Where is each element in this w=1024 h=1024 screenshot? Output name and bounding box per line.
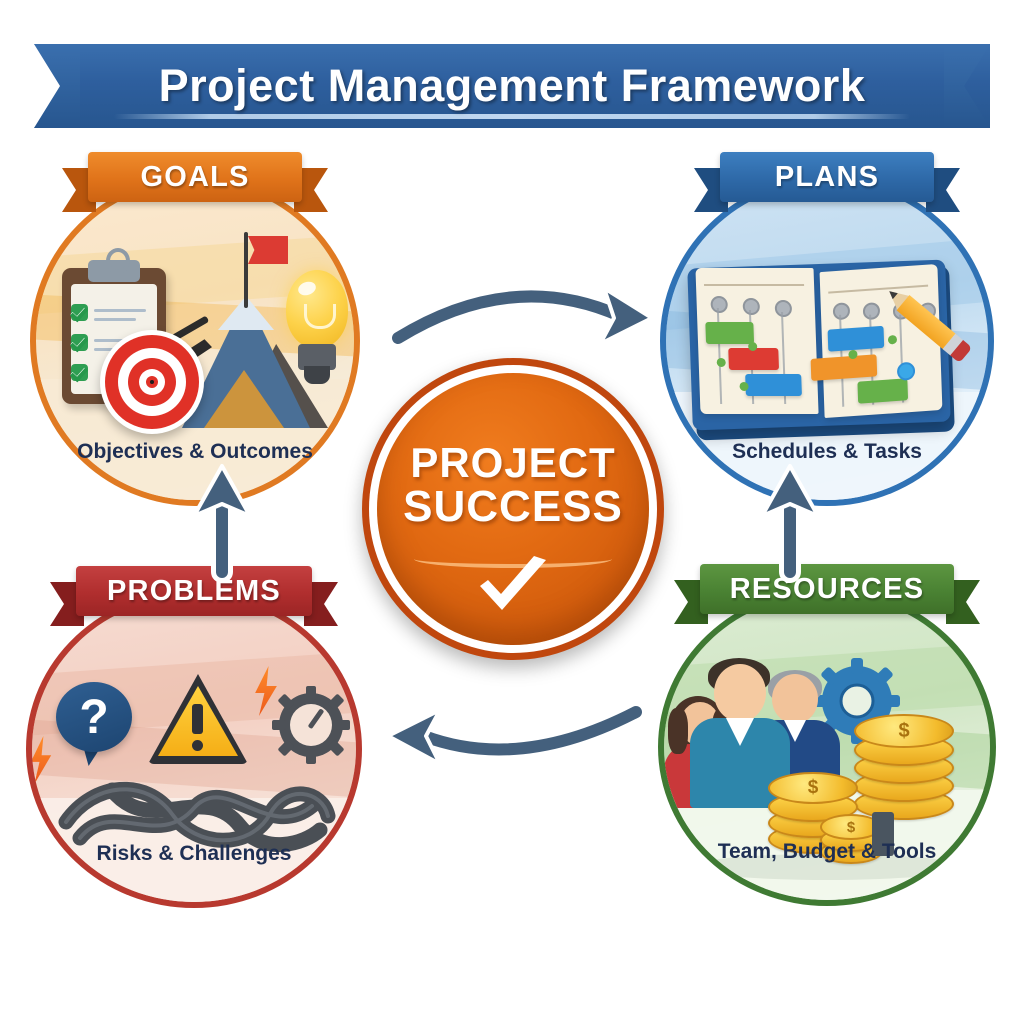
gantt-bar: [745, 374, 802, 396]
gantt-bar: [828, 326, 885, 352]
flag-pole: [244, 232, 248, 308]
question-mark-glyph: ?: [56, 682, 132, 752]
resources-ribbon[interactable]: RESOURCES: [700, 564, 954, 614]
node-resources[interactable]: $ $ $ RESOURCES Team, Budget & Tools: [658, 588, 996, 906]
gantt-bar: [811, 354, 878, 381]
node-plans[interactable]: PLANS Schedules & Tasks: [660, 176, 994, 506]
problems-ribbon-label: PROBLEMS: [76, 566, 312, 616]
gantt-bar: [705, 322, 754, 344]
gantt-bar: [857, 378, 908, 403]
center-project-success[interactable]: PROJECT SUCCESS: [362, 358, 664, 660]
gear-icon: [272, 686, 350, 764]
warning-exclamation-dot: [192, 740, 203, 751]
clipboard-line: [94, 309, 146, 312]
infographic-canvas: Project Management Framework: [0, 0, 1024, 1024]
problems-caption: Risks & Challenges: [26, 842, 362, 866]
checkmark-icon: [71, 304, 88, 321]
node-problems[interactable]: ?: [26, 590, 362, 908]
center-line-1: PROJECT: [410, 442, 615, 485]
goals-artwork: [36, 234, 354, 464]
red-flag-icon: [248, 236, 288, 264]
center-line-2: SUCCESS: [403, 485, 623, 530]
plans-ribbon-label: PLANS: [720, 152, 934, 202]
checkmark-icon: [71, 364, 88, 381]
gantt-bar: [728, 348, 779, 370]
tangled-knot-icon: [54, 764, 336, 854]
plans-artwork: [666, 234, 988, 464]
problems-ribbon[interactable]: PROBLEMS: [76, 566, 312, 616]
arrow-resources-to-problems: [388, 710, 636, 764]
goals-ribbon-label: GOALS: [88, 152, 302, 202]
plans-ribbon[interactable]: PLANS: [720, 152, 934, 202]
node-goals[interactable]: GOALS Objectives & Outcomes: [30, 176, 360, 506]
clipboard-line: [94, 318, 136, 321]
target-arrow-icon: [100, 330, 204, 434]
resources-ribbon-label: RESOURCES: [700, 564, 954, 614]
lightbulb-base-bottom: [304, 366, 330, 384]
resources-caption: Team, Budget & Tools: [658, 840, 996, 864]
goals-ribbon[interactable]: GOALS: [88, 152, 302, 202]
clipboard-ring: [106, 248, 130, 274]
arrow-goals-to-plans: [398, 288, 652, 344]
header-banner: Project Management Framework: [34, 44, 990, 128]
lightbulb-filament: [304, 304, 336, 329]
lightning-bolt-icon: [26, 736, 56, 784]
warning-exclamation: [192, 704, 203, 734]
book-page-right: [820, 264, 943, 418]
check-mark-icon: [474, 556, 552, 618]
page-title: Project Management Framework: [34, 44, 990, 128]
book-page-left: [695, 268, 818, 414]
plans-caption: Schedules & Tasks: [660, 440, 994, 464]
checkmark-icon: [71, 334, 88, 351]
goals-caption: Objectives & Outcomes: [30, 440, 360, 464]
